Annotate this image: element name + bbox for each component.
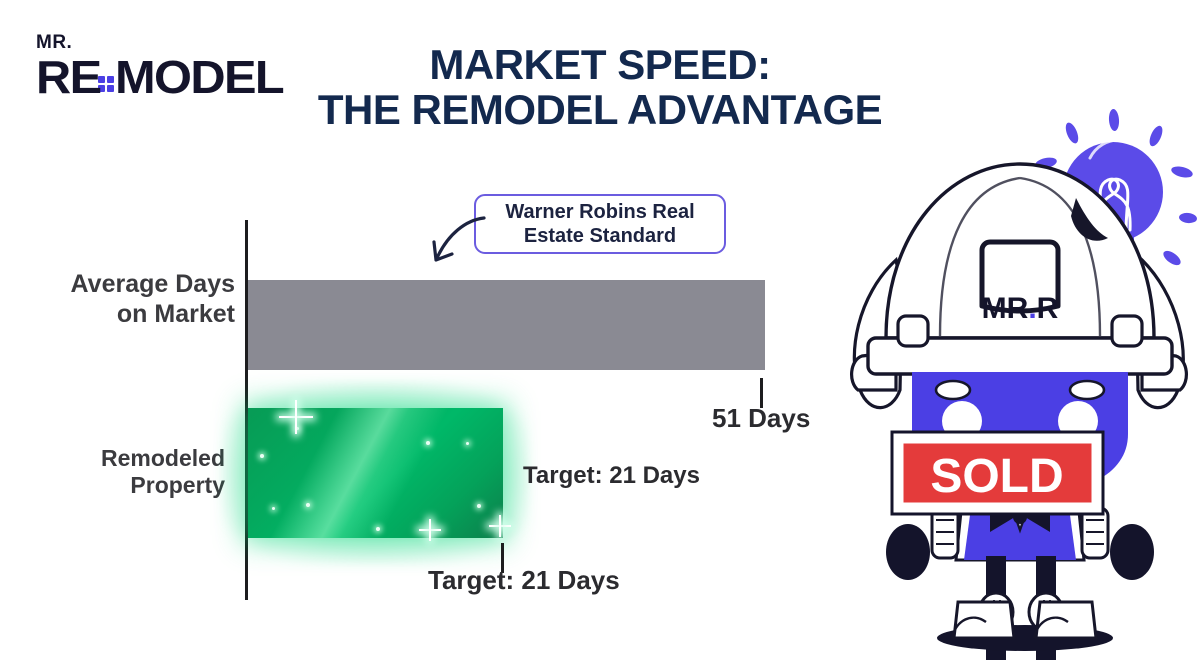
- callout-line1: Warner Robins Real: [505, 201, 694, 223]
- helmet-label: MR.R: [982, 292, 1059, 325]
- robot-feet: [930, 590, 1120, 652]
- bar-remodeled-fill: [248, 408, 503, 538]
- callout-warner-robins-standard: Warner Robins Real Estate Standard: [474, 194, 726, 254]
- value-label-51-days: 51 Days: [712, 403, 810, 434]
- category-label-line1: Remodeled: [101, 445, 225, 471]
- sold-sign-label: SOLD: [930, 450, 1063, 503]
- infographic-canvas: MR. RE MODEL MARKET SPEED: THE REMODEL A…: [0, 0, 1200, 670]
- category-label-line1: Average Days: [71, 270, 235, 298]
- category-label-line2: Property: [130, 472, 225, 498]
- category-label-remodeled-property: Remodeled Property: [10, 445, 225, 499]
- value-label-target-21-days-inline: Target: 21 Days: [523, 462, 700, 490]
- category-label-line2: on Market: [117, 300, 235, 328]
- callout-arrow-icon: [412, 214, 492, 276]
- callout-line2: Estate Standard: [524, 225, 676, 247]
- value-label-target-21-days-axis: Target: 21 Days: [428, 565, 620, 596]
- robot-hand-right: [1110, 524, 1154, 580]
- bar-chart: Average Days on Market Remodeled Propert…: [0, 0, 860, 670]
- category-label-average-days: Average Days on Market: [10, 270, 235, 329]
- robot-hand-left: [886, 524, 930, 580]
- sold-sign: SOLD: [890, 430, 1105, 516]
- robot-mascot: MR.R: [840, 90, 1200, 660]
- bar-remodeled-property: [248, 408, 503, 538]
- bar-average-days-on-market: [248, 280, 765, 370]
